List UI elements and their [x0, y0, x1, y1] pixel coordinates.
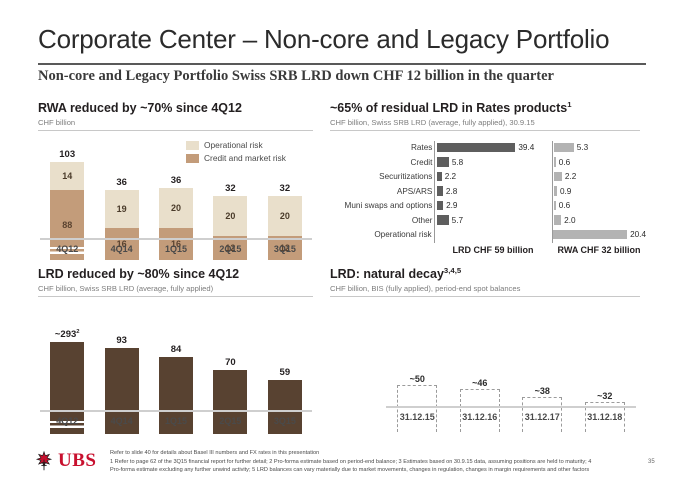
panel-residual: ~65% of residual LRD in Rates products1 … — [330, 102, 640, 131]
panel-lrd-heading: LRD reduced by ~80% since 4Q12 — [38, 268, 313, 282]
bar-value-label: ~38 — [535, 386, 550, 396]
bar-segment-operational-risk: 14 — [50, 162, 84, 190]
category-label: 4Q12 — [40, 416, 94, 426]
row-label: APS/ARS — [330, 187, 437, 196]
row-label: Rates — [330, 143, 437, 152]
rwa-bar — [554, 186, 557, 196]
row-label: Muni swaps and options — [330, 201, 437, 210]
page-subtitle: Non-core and Legacy Portfolio Swiss SRB … — [38, 68, 554, 85]
bar-total-label: 32 — [280, 183, 291, 194]
panel-decay-heading: LRD: natural decay3,4,5 — [330, 268, 640, 282]
page-number: 35 — [648, 459, 655, 465]
footnote-line-2: 1 Refer to page 62 of the 3Q15 financial… — [110, 458, 600, 475]
bar-value-label: 70 — [225, 357, 236, 368]
lrd-axis — [40, 410, 312, 412]
rwa-value-label: 2.0 — [564, 216, 575, 225]
lrd-bar — [437, 186, 443, 196]
panel-decay-subheading: CHF billion, BIS (fully applied), period… — [330, 284, 640, 293]
title-divider — [38, 63, 646, 65]
lrd-value-label: 2.9 — [446, 201, 457, 210]
category-label: 2Q15 — [203, 244, 257, 254]
lrd-bar-cell — [437, 230, 552, 240]
lrd-bar — [437, 157, 448, 167]
bar-value-label: ~50 — [410, 374, 425, 384]
bar-value-label: ~2932 — [55, 329, 80, 340]
lrd-value-label: 2.2 — [445, 172, 456, 181]
lrd-bar — [437, 143, 515, 153]
bar-total-label: 36 — [171, 175, 182, 186]
bar-total-label: 32 — [225, 183, 236, 194]
rwa-bar-cell: 2.2 — [554, 172, 647, 182]
category-label: 4Q14 — [94, 416, 148, 426]
rwa-axis — [40, 238, 312, 240]
lrd-bar — [437, 172, 441, 182]
bar-label-superscript: 2 — [76, 329, 79, 335]
legend-label-credit-market-risk: Credit and market risk — [204, 153, 286, 163]
panel-rwa-heading: RWA reduced by ~70% since 4Q12 — [38, 102, 313, 116]
rwa-value-label: 0.6 — [559, 201, 570, 210]
lrd-column-divider — [434, 141, 435, 243]
category-label: 4Q12 — [40, 244, 94, 254]
bar-slot: ~50 — [386, 374, 449, 432]
lrd-bar-cell: 39.4 — [437, 143, 553, 153]
bar-value-label: 59 — [280, 367, 291, 378]
lrd-bar-cell: 5.8 — [437, 157, 553, 167]
bar-total-label: 36 — [116, 177, 127, 188]
row-label: Credit — [330, 158, 437, 167]
ubs-logo: UBS — [33, 450, 96, 472]
rwa-value-label: 2.2 — [565, 172, 576, 181]
category-label: 31.12.17 — [511, 412, 574, 422]
legend-item-operational-risk: Operational risk — [186, 140, 286, 150]
bar-slot: ~38 — [511, 386, 574, 432]
panel-lrd-subheading: CHF billion, Swiss SRB LRD (average, ful… — [38, 284, 313, 293]
rwa-bar-cell: 2.0 — [554, 215, 647, 225]
lrd-bar-cell: 5.7 — [437, 215, 553, 225]
panel-decay: LRD: natural decay3,4,5 CHF billion, BIS… — [330, 268, 640, 297]
lrd-category-labels: 4Q124Q141Q152Q153Q15 — [40, 416, 312, 426]
panel-decay-heading-text: LRD: natural decay — [330, 267, 444, 281]
panel-lrd: LRD reduced by ~80% since 4Q12 CHF billi… — [38, 268, 313, 297]
decay-axis — [386, 406, 636, 408]
decay-category-labels: 31.12.1531.12.1631.12.1731.12.18 — [386, 412, 636, 422]
bar-value-label: 93 — [116, 335, 127, 346]
rwa-value-label: 5.3 — [577, 143, 588, 152]
bar-value-label: ~32 — [597, 391, 612, 401]
table-row: Muni swaps and options2.90.6 — [330, 199, 646, 212]
footnotes: Refer to slide 40 for details about Base… — [110, 449, 600, 475]
table-row: APS/ARS2.80.9 — [330, 185, 646, 198]
chart-lrd-natural-decay: ~50~46~38~32 31.12.1531.12.1631.12.1731.… — [386, 350, 636, 432]
panel-decay-heading-superscript: 3,4,5 — [444, 266, 461, 275]
bar-value-label: 84 — [171, 344, 182, 355]
rwa-bar-cell: 20.4 — [552, 230, 646, 240]
row-label: Other — [330, 216, 437, 225]
rwa-bar-cell: 0.9 — [554, 186, 647, 196]
residual-rows: Rates39.45.3Credit5.80.6Securitizations2… — [330, 141, 646, 241]
legend-swatch-operational-risk — [186, 141, 199, 150]
lrd-bar — [437, 215, 448, 225]
category-label: 1Q15 — [149, 416, 203, 426]
rwa-bar-cell: 5.3 — [554, 143, 647, 153]
category-label: 3Q15 — [258, 416, 312, 426]
footnote-line-1: Refer to slide 40 for details about Base… — [110, 449, 600, 458]
category-label: 31.12.18 — [574, 412, 637, 422]
rwa-bar — [552, 230, 627, 240]
rwa-bar — [554, 201, 556, 211]
table-row: Rates39.45.3 — [330, 141, 646, 154]
lrd-bar-cell: 2.8 — [437, 186, 553, 196]
category-label: 1Q15 — [149, 244, 203, 254]
rwa-value-label: 20.4 — [630, 230, 646, 239]
rwa-category-labels: 4Q124Q141Q152Q153Q15 — [40, 244, 312, 254]
category-label: 3Q15 — [258, 244, 312, 254]
rwa-value-label: 0.6 — [559, 158, 570, 167]
ubs-keys-icon — [33, 450, 55, 472]
rwa-bar — [554, 172, 562, 182]
dashed-bar — [397, 385, 437, 432]
legend-swatch-credit-market-risk — [186, 154, 199, 163]
rwa-legend: Operational risk Credit and market risk — [186, 140, 286, 166]
dashed-bar — [460, 389, 500, 432]
lrd-value-label: 5.7 — [452, 216, 463, 225]
chart-residual-lrd-rwa: Rates39.45.3Credit5.80.6Securitizations2… — [330, 141, 646, 259]
bar-value-label: ~46 — [472, 378, 487, 388]
bar-segment-operational-risk: 20 — [268, 196, 302, 236]
table-row: Securitizations2.22.2 — [330, 170, 646, 183]
lrd-bar-cell: 2.9 — [437, 201, 553, 211]
rwa-bar — [554, 143, 574, 153]
slide: Corporate Center – Non-core and Legacy P… — [0, 0, 680, 481]
rwa-bar-cell: 0.6 — [554, 201, 647, 211]
rwa-bar — [554, 157, 556, 167]
panel-lrd-divider — [38, 296, 313, 297]
panel-residual-heading-superscript: 1 — [567, 100, 571, 109]
bar-segment-operational-risk: 19 — [105, 190, 139, 228]
category-label: 31.12.15 — [386, 412, 449, 422]
rwa-value-label: 0.9 — [560, 187, 571, 196]
bar-total-label: 103 — [59, 149, 75, 160]
lrd-value-label: 2.8 — [446, 187, 457, 196]
lrd-value-label: 5.8 — [452, 158, 463, 167]
table-row: Operational risk20.4 — [330, 228, 646, 241]
panel-rwa-subheading: CHF billion — [38, 118, 313, 127]
panel-rwa-divider — [38, 130, 313, 131]
lrd-value-label: 39.4 — [518, 143, 534, 152]
table-row: Credit5.80.6 — [330, 156, 646, 169]
ubs-wordmark: UBS — [58, 450, 96, 472]
lrd-bar-cell: 2.2 — [437, 172, 553, 182]
decay-bar-group: ~50~46~38~32 — [386, 376, 636, 432]
panel-rwa: RWA reduced by ~70% since 4Q12 CHF billi… — [38, 102, 313, 131]
bar-segment-operational-risk: 20 — [213, 196, 247, 236]
rwa-bar — [554, 215, 562, 225]
category-label: 2Q15 — [203, 416, 257, 426]
table-row: Other5.72.0 — [330, 214, 646, 227]
panel-decay-divider — [330, 296, 640, 297]
rwa-total-label: RWA CHF 32 billion — [552, 245, 646, 255]
bar-segment-operational-risk: 20 — [159, 188, 193, 228]
lrd-total-label: LRD CHF 59 billion — [434, 245, 552, 255]
legend-label-operational-risk: Operational risk — [204, 140, 263, 150]
chart-lrd-reduction: ~293293847059 4Q124Q141Q152Q153Q15 — [40, 306, 312, 434]
panel-residual-heading: ~65% of residual LRD in Rates products1 — [330, 102, 640, 116]
panel-residual-heading-text: ~65% of residual LRD in Rates products — [330, 101, 567, 115]
lrd-bar — [437, 201, 443, 211]
category-label: 4Q14 — [94, 244, 148, 254]
page-title: Corporate Center – Non-core and Legacy P… — [38, 24, 609, 55]
row-label: Securitizations — [330, 172, 437, 181]
panel-residual-subheading: CHF billion, Swiss SRB LRD (average, ful… — [330, 118, 640, 127]
rwa-bar-cell: 0.6 — [554, 157, 647, 167]
legend-item-credit-market-risk: Credit and market risk — [186, 153, 286, 163]
rwa-column-divider — [552, 141, 553, 243]
category-label: 31.12.16 — [449, 412, 512, 422]
row-label: Operational risk — [330, 230, 437, 239]
chart-rwa-stacked: 1031488361916362016322012322012 4Q124Q14… — [40, 140, 312, 260]
panel-residual-divider — [330, 130, 640, 131]
